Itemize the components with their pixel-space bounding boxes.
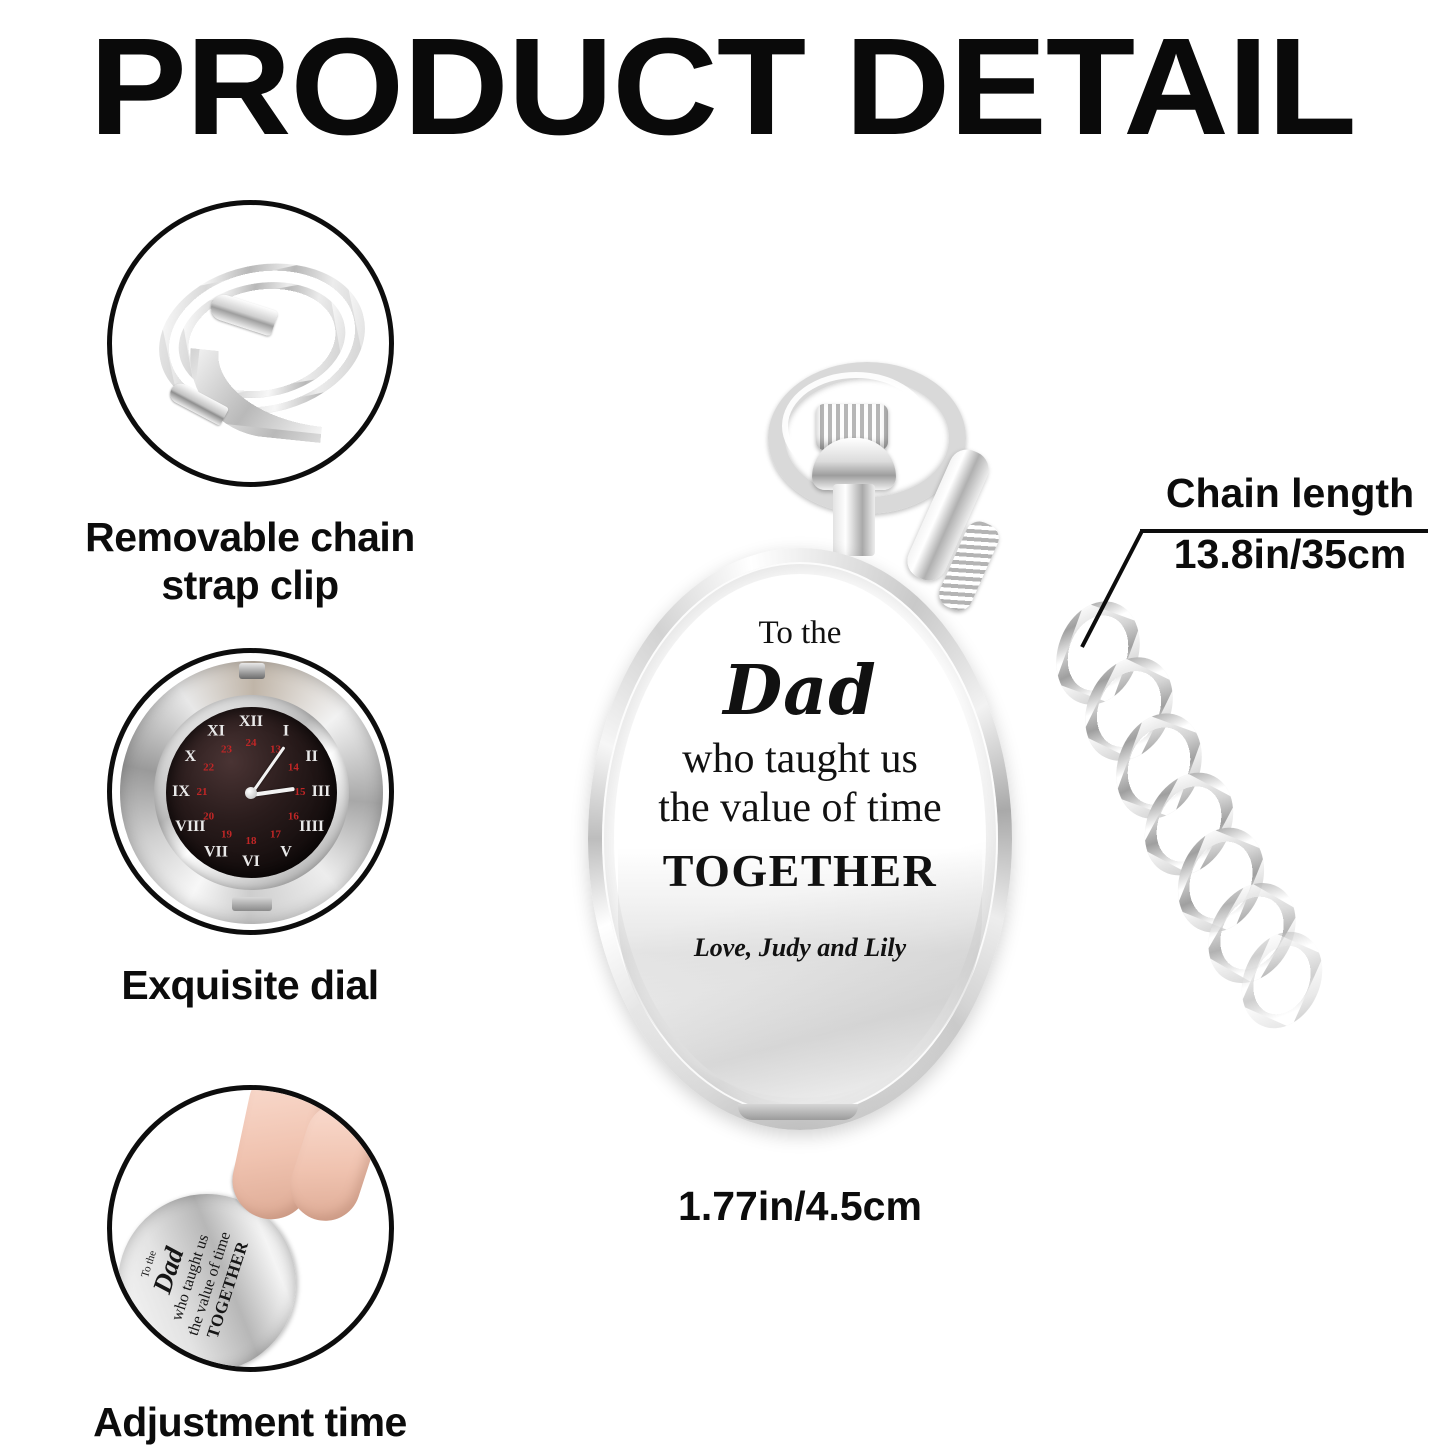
page-title: PRODUCT DETAIL xyxy=(0,18,1445,156)
chain-length-leader-diagonal xyxy=(1080,529,1144,649)
chain-length-value: 13.8in/35cm xyxy=(1140,531,1440,578)
engraving-line2: Dad xyxy=(723,653,877,729)
hand-pin xyxy=(245,787,257,799)
feature-label-exquisite-dial: Exquisite dial xyxy=(0,961,500,1009)
feature-label-line1: Exquisite dial xyxy=(0,961,500,1009)
watch-stem xyxy=(833,484,875,556)
watch-engraving: To the Dad who taught us the value of ti… xyxy=(588,548,1012,1130)
chain-length-label: Chain length xyxy=(1166,470,1414,516)
feature-label-line1: Removable chain xyxy=(0,513,500,561)
engraving-line5: TOGETHER xyxy=(663,844,937,897)
engraving-line4: the value of time xyxy=(658,784,941,833)
feature-label-removable-chain-strap-clip: Removable chain strap clip xyxy=(0,513,500,610)
feature-adjustment-time: To the Dad who taught us the value of ti… xyxy=(0,1085,500,1445)
hand-holding-watch-icon: To the Dad who taught us the value of ti… xyxy=(107,1085,394,1372)
product-detail-page: PRODUCT DETAIL Removable chain strap cli… xyxy=(0,0,1445,1445)
engraving-signature: Love, Judy and Lily xyxy=(694,933,906,963)
feature-label-adjustment-time: Adjustment time xyxy=(0,1398,500,1445)
engraving-line3: who taught us xyxy=(682,735,918,784)
feature-removable-chain-strap-clip: Removable chain strap clip xyxy=(0,200,500,610)
feature-label-line1: Adjustment time xyxy=(0,1398,500,1445)
chain-coil-icon xyxy=(107,200,394,487)
watch-dial-icon: XIIIIIIIIIIIIVVIVIIVIIIIXXXI 24131415161… xyxy=(107,648,394,935)
chain-length-annotation: Chain length 13.8in/35cm xyxy=(1140,470,1440,578)
case-size-annotation: 1.77in/4.5cm xyxy=(600,1183,1000,1230)
engraving-line1: To the xyxy=(759,616,842,651)
feature-exquisite-dial: XIIIIIIIIIIIIVVIVIIVIIIIXXXI 24131415161… xyxy=(0,648,500,1009)
feature-label-line2: strap clip xyxy=(0,561,500,609)
engraved-pocket-watch: To the Dad who taught us the value of ti… xyxy=(588,548,1012,1130)
